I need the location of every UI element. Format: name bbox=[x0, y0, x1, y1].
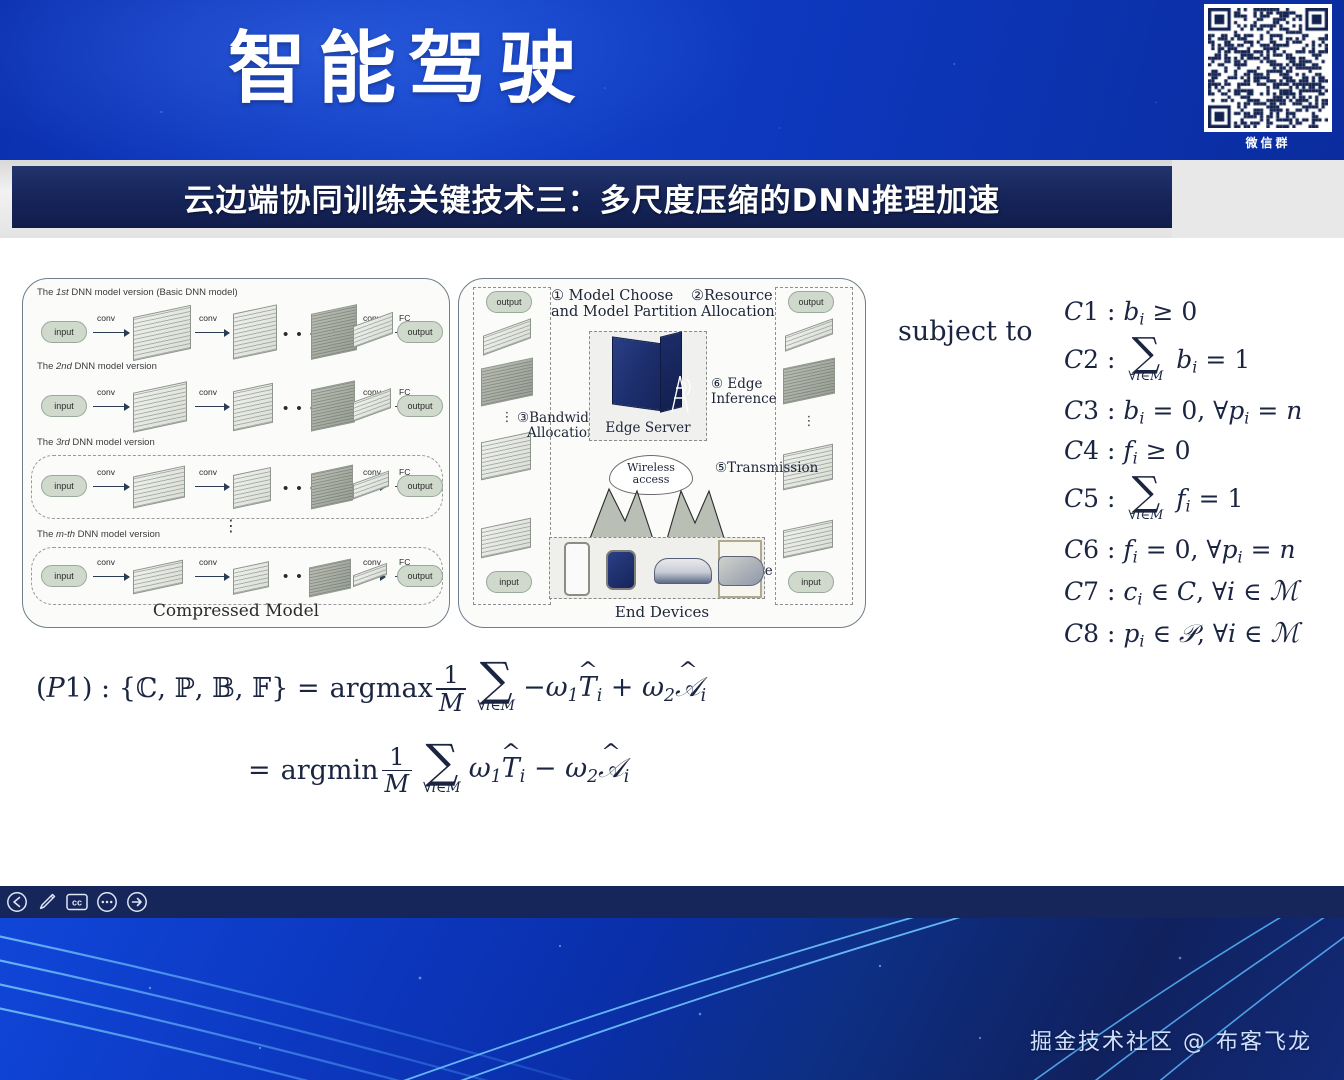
slide-viewer: 智能驾驶 微信群 云边端协同训练关键技术三：多尺度压缩的DNN推理加速 The … bbox=[0, 0, 1344, 1080]
subtitle-bar-container: 云边端协同训练关键技术三：多尺度压缩的DNN推理加速 bbox=[0, 160, 1344, 238]
dnn-row-label-m: The m-th DNN model version bbox=[37, 529, 160, 540]
constraint-c1: C1 : bi ≥ 0 bbox=[1064, 298, 1344, 329]
subtitle-bar: 云边端协同训练关键技术三：多尺度压缩的DNN推理加速 bbox=[12, 166, 1172, 228]
wireless-line-1: Wireless bbox=[610, 462, 692, 474]
arrow bbox=[195, 486, 229, 487]
dnn-output-node: output bbox=[397, 565, 443, 587]
signal-waves-icon bbox=[575, 483, 755, 545]
dnn-input-node: input bbox=[41, 395, 87, 417]
pen-icon bbox=[36, 891, 58, 913]
conv-block-dark bbox=[309, 559, 351, 598]
slide-content: The 1st DNN model version (Basic DNN mod… bbox=[0, 238, 1344, 886]
car-icon bbox=[654, 558, 712, 584]
arrow-left-circle-icon bbox=[6, 891, 28, 913]
conv-block bbox=[133, 560, 183, 595]
arrow bbox=[93, 576, 129, 577]
phone-icon bbox=[564, 542, 590, 596]
camera-frame bbox=[718, 540, 762, 598]
conv-label: conv bbox=[199, 387, 217, 397]
dnn-pipeline-2-tail: FC output bbox=[353, 379, 445, 433]
label-step-2: ②ResourceAllocation bbox=[691, 289, 775, 320]
summation-symbol: ∑ ∀i∈M bbox=[423, 745, 461, 796]
subtitle-text: 云边端协同训练关键技术三：多尺度压缩的DNN推理加速 bbox=[184, 175, 1001, 220]
dnn-input-node: input bbox=[41, 475, 87, 497]
figure-edge-inference-system: output ⋮ input output ⋮ input ① Model Ch… bbox=[458, 278, 866, 628]
constraints-list: C1 : bi ≥ 0 C2 : ∑ ∀i∈M bi = 1 C3 : bi =… bbox=[1064, 298, 1344, 659]
fc-block bbox=[353, 470, 389, 499]
camera-icon bbox=[718, 556, 764, 586]
one-over-m-fraction: 1 M bbox=[382, 745, 413, 797]
conv-label: conv bbox=[97, 557, 115, 567]
back-button[interactable] bbox=[4, 889, 30, 915]
dnn-output-node: output bbox=[397, 321, 443, 343]
one-over-m-fraction: 1 M bbox=[436, 663, 467, 715]
dnn-output-node: output bbox=[397, 395, 443, 417]
arrow bbox=[93, 486, 129, 487]
conv-label: conv bbox=[199, 313, 217, 323]
page-title: 智能驾驶 bbox=[228, 30, 588, 108]
constraint-c4: C4 : fi ≥ 0 bbox=[1064, 437, 1344, 468]
dnn-input-node: input bbox=[41, 321, 87, 343]
svg-text:cc: cc bbox=[72, 898, 82, 908]
figure-compressed-model: The 1st DNN model version (Basic DNN mod… bbox=[22, 278, 450, 628]
subtitle-bar-filler bbox=[1172, 160, 1344, 238]
conv-block bbox=[133, 381, 187, 432]
cc-icon: cc bbox=[65, 892, 89, 912]
figure-left-caption: Compressed Model bbox=[23, 601, 449, 621]
conv-label: conv bbox=[199, 467, 217, 477]
dnn-pipeline-1-tail: FC output bbox=[353, 305, 445, 359]
mid-input-node-left: input bbox=[486, 571, 532, 593]
conv-block bbox=[133, 305, 191, 361]
fc-block bbox=[353, 563, 387, 587]
constraint-c8: C8 : pi ∈ 𝒫, ∀i ∈ ℳ bbox=[1064, 618, 1344, 651]
label-step-6: ⑥ EdgeInference bbox=[711, 377, 777, 406]
player-toolbar: cc bbox=[0, 886, 1344, 918]
more-button[interactable] bbox=[94, 889, 120, 915]
conv-block-dark bbox=[311, 304, 357, 360]
end-devices-label: End Devices bbox=[459, 603, 865, 621]
pen-button[interactable] bbox=[34, 889, 60, 915]
label-step-1: ① Model Chooseand Model Partition bbox=[551, 289, 697, 320]
wechat-group-qr-icon[interactable] bbox=[1204, 4, 1332, 132]
summation-symbol: ∑ ∀i∈M bbox=[1128, 477, 1163, 524]
wechat-group-qr-block: 微信群 bbox=[1200, 4, 1336, 151]
conv-label: conv bbox=[97, 387, 115, 397]
arrow bbox=[195, 332, 229, 333]
slide-footer: 掘金技术社区 @ 布客飞龙 bbox=[0, 918, 1344, 1080]
edge-server-label: Edge Server bbox=[590, 420, 706, 436]
conv-label: conv bbox=[199, 557, 217, 567]
summation-symbol: ∑ ∀i∈M bbox=[477, 663, 515, 714]
dnn-output-node: output bbox=[397, 475, 443, 497]
subject-to-label: subject to bbox=[898, 316, 1033, 347]
arrow bbox=[195, 406, 229, 407]
vertical-ellipsis: ⋮ bbox=[219, 523, 243, 532]
conv-label: conv bbox=[97, 313, 115, 323]
vertical-ellipsis: ⋮ bbox=[799, 417, 819, 424]
conv-block bbox=[133, 465, 185, 508]
constraint-c5: C5 : ∑ ∀i∈M fi = 1 bbox=[1064, 477, 1344, 524]
optimization-formula: (P1) : {ℂ, ℙ, 𝔹, 𝔽} = argmax 1 M ∑ ∀i∈M … bbox=[36, 663, 716, 796]
conv-block bbox=[233, 561, 269, 595]
dnn-row-label-2: The 2nd DNN model version bbox=[37, 361, 157, 372]
dnn-row-label-3: The 3rd DNN model version bbox=[37, 437, 155, 448]
dnn-input-node: input bbox=[41, 565, 87, 587]
slide-header: 智能驾驶 微信群 bbox=[0, 0, 1344, 160]
arrow bbox=[93, 332, 129, 333]
mid-output-node-right: output bbox=[788, 291, 834, 313]
vertical-ellipsis: ⋮ bbox=[497, 413, 517, 420]
conv-block bbox=[233, 383, 273, 432]
qr-label: 微信群 bbox=[1200, 134, 1336, 151]
server-icon bbox=[612, 336, 664, 411]
formula-line-1: (P1) : {ℂ, ℙ, 𝔹, 𝔽} = argmax 1 M ∑ ∀i∈M … bbox=[36, 663, 716, 715]
conv-block bbox=[233, 304, 277, 359]
mid-output-node-left: output bbox=[486, 291, 532, 313]
fc-block bbox=[353, 312, 393, 349]
arrow-right-circle-icon bbox=[126, 891, 148, 913]
arrow bbox=[195, 576, 229, 577]
constraint-c2: C2 : ∑ ∀i∈M bi = 1 bbox=[1064, 338, 1344, 385]
conv-block bbox=[233, 467, 271, 509]
edge-server-box: Edge Server bbox=[589, 331, 707, 441]
forward-button[interactable] bbox=[124, 889, 150, 915]
constraint-c6: C6 : fi = 0, ∀pi = n bbox=[1064, 536, 1344, 567]
dnn-row-label-1: The 1st DNN model version (Basic DNN mod… bbox=[37, 287, 238, 298]
dnn-pipeline-m-tail: FC output bbox=[353, 551, 445, 605]
antenna-icon bbox=[660, 370, 700, 414]
fc-block bbox=[353, 388, 391, 422]
conv-block-dark bbox=[311, 465, 353, 510]
dnn-pipeline-3-tail: FC output bbox=[353, 459, 445, 513]
formula-line-2: = argmin 1 M ∑ ∀i∈M ω1Ti − ω2𝒜i bbox=[248, 745, 716, 797]
footer-watermark: 掘金技术社区 @ 布客飞龙 bbox=[1030, 1024, 1312, 1056]
conv-block-dark bbox=[311, 380, 355, 431]
end-devices-box bbox=[549, 537, 765, 599]
mid-input-node-right: input bbox=[788, 571, 834, 593]
summation-symbol: ∑ ∀i∈M bbox=[1128, 338, 1163, 385]
ellipsis-circle-icon bbox=[96, 891, 118, 913]
captions-button[interactable]: cc bbox=[64, 889, 90, 915]
constraint-c7: C7 : ci ∈ C, ∀i ∈ ℳ bbox=[1064, 576, 1344, 609]
arrow bbox=[93, 406, 129, 407]
constraint-c3: C3 : bi = 0, ∀pi = n bbox=[1064, 397, 1344, 428]
smartwatch-icon bbox=[606, 550, 636, 590]
conv-label: conv bbox=[97, 467, 115, 477]
label-step-5: ⑤Transmission bbox=[715, 461, 818, 476]
